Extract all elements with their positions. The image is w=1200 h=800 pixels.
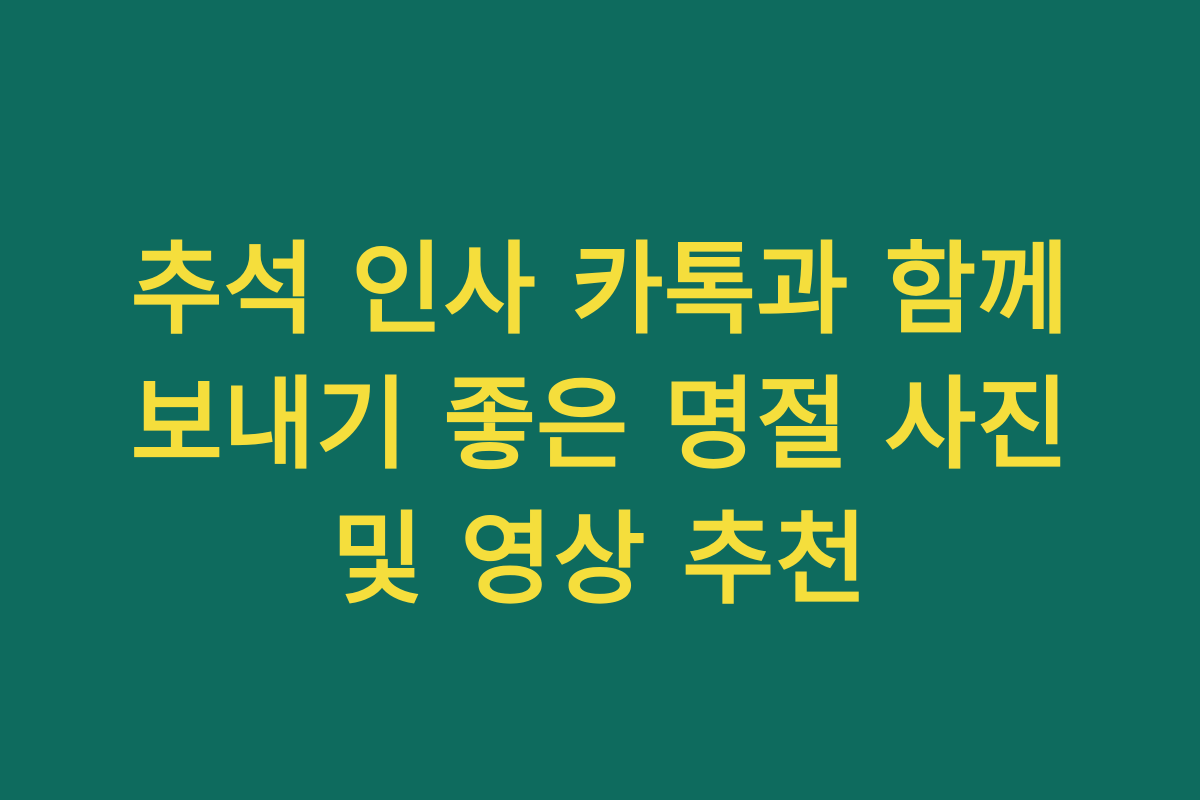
thumbnail-card: 추석 인사 카톡과 함께 보내기 좋은 명절 사진 및 영상 추천	[0, 0, 1200, 800]
headline-line-2: 보내기 좋은 명절 사진	[131, 357, 1069, 492]
headline-block: 추석 인사 카톡과 함께 보내기 좋은 명절 사진 및 영상 추천	[0, 222, 1200, 627]
headline-line-3: 및 영상 추천	[332, 492, 869, 627]
headline-line-1: 추석 인사 카톡과 함께	[131, 222, 1069, 357]
